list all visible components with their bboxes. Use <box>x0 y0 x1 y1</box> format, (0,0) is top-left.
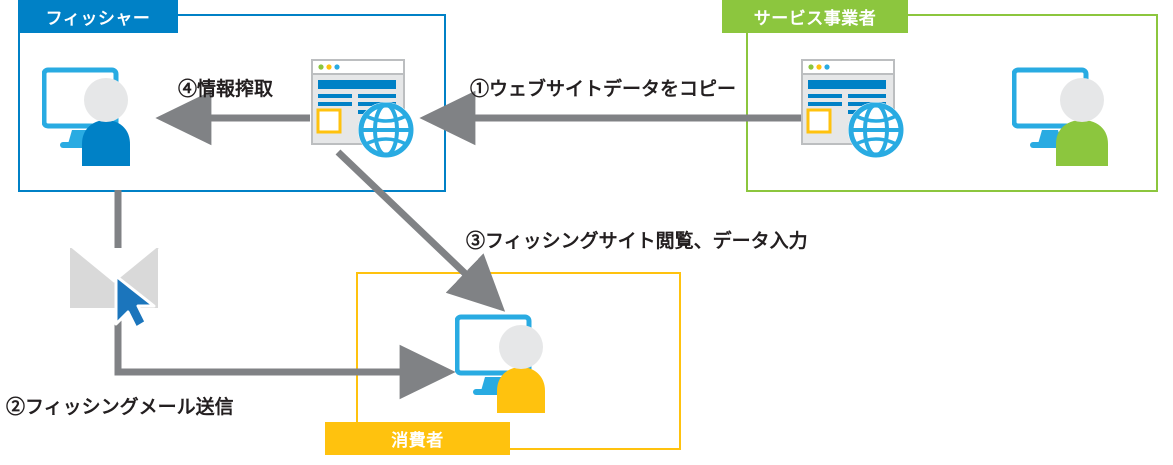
step-label-2: ②フィッシングメール送信 <box>6 392 234 419</box>
website-globe-original-icon <box>800 58 910 162</box>
badge-phisher: フィッシャー <box>18 0 178 33</box>
phishing-flow-diagram: フィッシャー サービス事業者 消費者 ①ウェブサイトデータをコピー ②フィッシン… <box>0 0 1173 465</box>
person-computer-provider-icon <box>1012 58 1140 166</box>
step-label-1: ①ウェブサイトデータをコピー <box>470 74 736 101</box>
badge-service-provider: サービス事業者 <box>722 0 908 33</box>
step-label-4: ④情報搾取 <box>178 74 273 101</box>
person-computer-consumer-icon <box>455 305 575 413</box>
email-envelope-cursor-icon <box>70 248 180 330</box>
step-label-3: ③フィッシングサイト閲覧、データ入力 <box>466 226 808 253</box>
website-globe-copy-icon <box>310 58 420 162</box>
person-computer-phisher-icon <box>42 58 160 166</box>
badge-consumer: 消費者 <box>325 422 510 455</box>
